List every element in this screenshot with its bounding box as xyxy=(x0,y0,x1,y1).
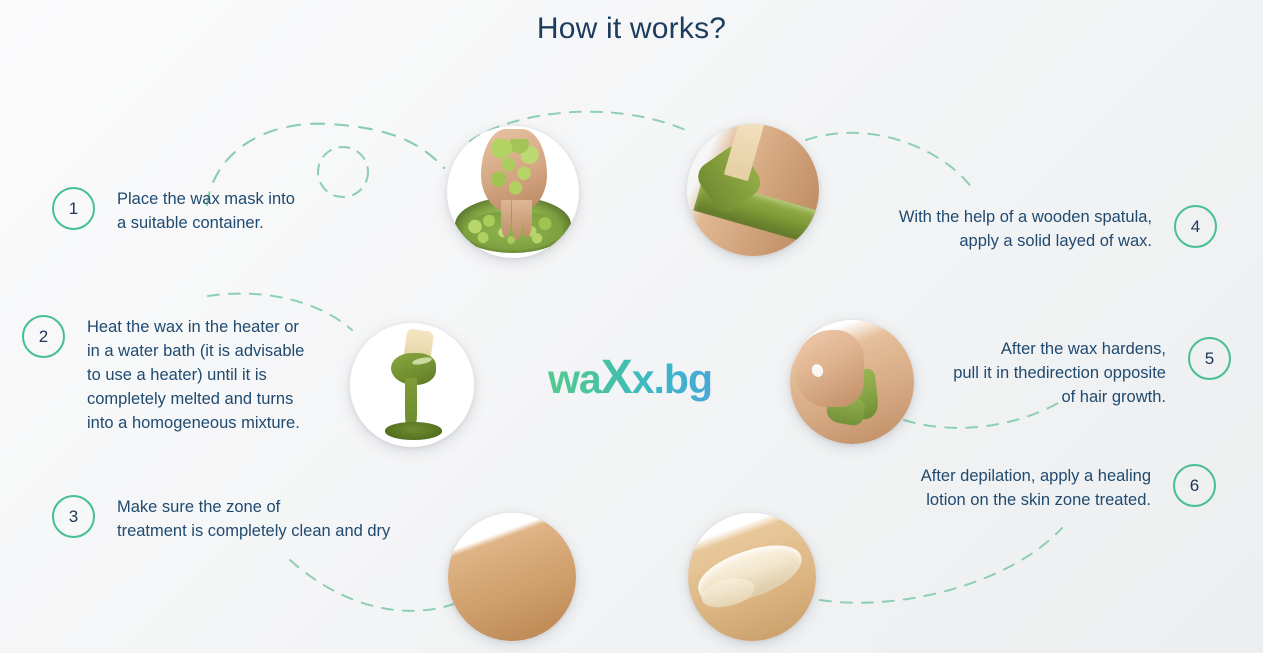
step-number-badge-6: 6 xyxy=(1173,464,1216,507)
clean-skin-zone-photo xyxy=(448,513,576,641)
step-5: 5 After the wax hardens, pull it in thed… xyxy=(953,337,1231,409)
skin-shape xyxy=(448,513,576,641)
step-2: 2 Heat the wax in the heater or in a wat… xyxy=(22,315,304,435)
step-text-3: Make sure the zone of treatment is compl… xyxy=(117,495,390,543)
logo-prefix: wa xyxy=(548,356,601,402)
wax-beads-into-bowl-photo xyxy=(447,126,579,258)
applying-wax-with-spatula-photo xyxy=(687,124,819,256)
logo-x-mark: X xyxy=(601,351,632,404)
finger-shape xyxy=(522,200,532,237)
step-number-badge-5: 5 xyxy=(1188,337,1231,380)
brand-logo: waXx.bg xyxy=(548,350,712,405)
step-number-badge-4: 4 xyxy=(1174,205,1217,248)
step-text-2: Heat the wax in the heater or in a water… xyxy=(87,315,304,435)
hand-shape xyxy=(795,330,864,407)
step-4: 4 With the help of a wooden spatula, app… xyxy=(899,205,1217,253)
step-text-4: With the help of a wooden spatula, apply… xyxy=(899,205,1152,253)
fingernail-shape xyxy=(809,362,824,378)
step-number-badge-1: 1 xyxy=(52,187,95,230)
step-text-6: After depilation, apply a healing lotion… xyxy=(921,464,1151,512)
wax-pool-shape xyxy=(385,422,442,439)
step-3: 3 Make sure the zone of treatment is com… xyxy=(52,495,390,543)
logo-suffix: x.bg xyxy=(632,356,712,402)
step-text-5: After the wax hardens, pull it in thedir… xyxy=(953,337,1166,409)
step-1: 1 Place the wax mask into a suitable con… xyxy=(52,187,295,235)
infographic-stage: How it works? xyxy=(0,0,1263,653)
melted-wax-on-spatula-photo xyxy=(350,323,474,447)
finger-shape xyxy=(501,200,511,237)
step-6: 6 After depilation, apply a healing loti… xyxy=(921,464,1216,512)
healing-lotion-on-skin-photo xyxy=(688,513,816,641)
step-number-badge-3: 3 xyxy=(52,495,95,538)
finger-shape xyxy=(512,200,522,241)
peeling-wax-strip-photo xyxy=(790,320,914,444)
step-number-badge-2: 2 xyxy=(22,315,65,358)
falling-wax-beads xyxy=(492,139,540,200)
step-text-1: Place the wax mask into a suitable conta… xyxy=(117,187,295,235)
